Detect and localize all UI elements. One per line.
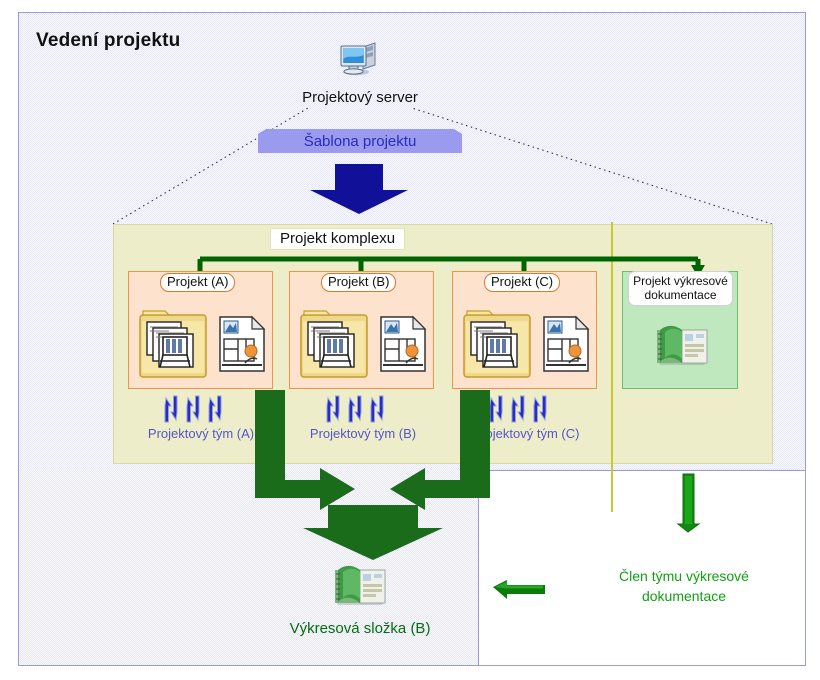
drawing-document-icon bbox=[218, 315, 266, 373]
page-title: Vedení projektu bbox=[36, 30, 180, 52]
drawing-folder-icon bbox=[139, 307, 207, 379]
up-down-arrows-icon bbox=[489, 394, 555, 424]
drawing-folder-icon bbox=[463, 307, 531, 379]
up-down-arrows-icon bbox=[164, 394, 230, 424]
drawing-folder-icon bbox=[300, 307, 368, 379]
project-complex-label: Projekt komplexu bbox=[270, 228, 405, 250]
section-divider bbox=[611, 222, 613, 512]
left-arrow-icon bbox=[491, 578, 547, 600]
server-label: Projektový server bbox=[250, 89, 470, 106]
project-caption-c: Projekt (C) bbox=[484, 273, 560, 292]
team-label-c: Projektový tým (C) bbox=[446, 426, 606, 441]
drawing-document-icon bbox=[542, 315, 590, 373]
green-book-icon bbox=[654, 322, 710, 370]
result-label: Výkresová složka (B) bbox=[240, 620, 480, 637]
diagram-canvas: Vedení projektu Projektový server Šablon… bbox=[0, 0, 820, 680]
team-label-b: Projektový tým (B) bbox=[283, 426, 443, 441]
team-label-a: Projektový tým (A) bbox=[121, 426, 281, 441]
drawing-document-icon bbox=[379, 315, 427, 373]
drawing-doc-project-caption: Projekt výkresové dokumentace bbox=[628, 271, 733, 306]
legend-label: Člen týmu výkresové dokumentace bbox=[584, 566, 784, 606]
template-banner-label: Šablona projektu bbox=[258, 130, 462, 154]
green-book-icon bbox=[332, 562, 388, 610]
computer-server-icon bbox=[339, 41, 379, 77]
up-down-arrows-icon bbox=[326, 394, 392, 424]
project-caption-a: Projekt (A) bbox=[160, 273, 235, 292]
down-arrow-icon bbox=[305, 164, 413, 214]
project-caption-b: Projekt (B) bbox=[321, 273, 396, 292]
down-arrow-icon bbox=[676, 472, 702, 534]
